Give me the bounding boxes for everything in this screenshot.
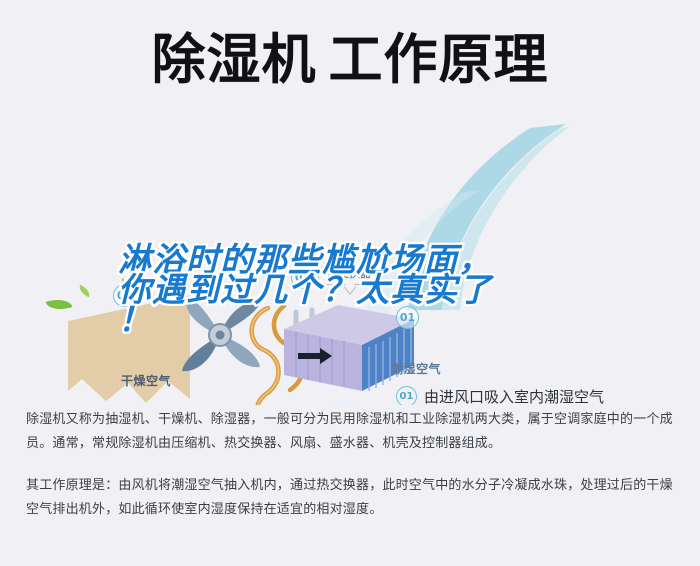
diagram-illustration: 水箱 热交换器 01 02 03 干燥空气 潮湿空气 01 由进风口吸入室内潮湿… [0,120,700,405]
legend-list: 01 由进风口吸入室内潮湿空气 02 潮湿空气经过蒸发器冷凝成水珠 03 从上部… [396,380,696,405]
airflow-swoosh-secondary-icon [360,180,550,320]
dry-air-label: 干燥空气 [121,372,171,389]
page-root: 除湿机工作原理 [0,0,700,566]
page-title-part2: 工作原理 [329,28,549,91]
body-paragraph-2: 其工作原理是：由风机将潮湿空气抽入机内，通过热交换器，此时空气中的水分子冷凝成水… [26,474,674,522]
legend-label: 由进风口吸入室内潮湿空气 [424,388,604,406]
diagram-badge-01: 01 [396,306,419,329]
page-title-part1: 除湿机 [152,28,317,91]
page-title: 除湿机工作原理 [152,33,549,87]
humid-air-label: 潮湿空气 [391,360,441,377]
body-paragraph-1: 除湿机又称为抽湿机、干燥机、除湿器，一般可分为民用除湿机和工业除湿机两大类，属于… [26,408,674,456]
legend-item: 01 由进风口吸入室内潮湿空气 [396,380,696,405]
diagram-badge-03: 03 [113,284,136,307]
diagram-badge-02: 02 [291,266,314,289]
heat-exchanger-callout: 热交换器 [318,265,380,285]
legend-number: 01 [396,386,417,405]
body-copy: 除湿机又称为抽湿机、干燥机、除湿器，一般可分为民用除湿机和工业除湿机两大类，属于… [0,408,700,540]
page-title-band: 除湿机工作原理 [0,0,700,120]
